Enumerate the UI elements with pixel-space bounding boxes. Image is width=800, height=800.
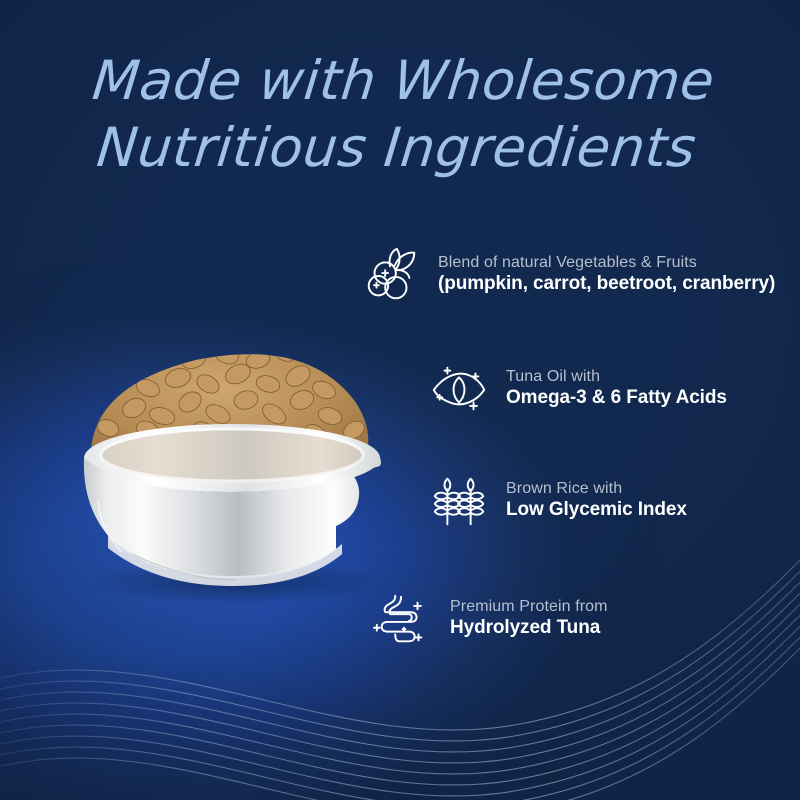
feature-text: Tuna Oil with Omega-3 & 6 Fatty Acids [506, 368, 727, 409]
promo-banner: Blend of natural Vegetables & Fruits (pu… [0, 0, 800, 800]
feature-text: Brown Rice with Low Glycemic Index [506, 480, 687, 521]
feature-label: Blend of natural Vegetables & Fruits [438, 254, 775, 273]
feature-item-tuna-oil: Tuna Oil with Omega-3 & 6 Fatty Acids [428, 358, 727, 420]
feature-item-vegetables-fruits: Blend of natural Vegetables & Fruits (pu… [360, 244, 775, 306]
berries-icon [360, 244, 422, 306]
feature-text: Premium Protein from Hydrolyzed Tuna [450, 598, 608, 639]
headline-line-1: Made with Wholesome [90, 49, 718, 112]
dog-food-bowl [36, 330, 416, 620]
headline-line-2: Nutritious Ingredients [0, 115, 800, 182]
feature-text: Blend of natural Vegetables & Fruits (pu… [438, 254, 775, 295]
feature-label: Tuna Oil with [506, 368, 727, 387]
feature-value: (pumpkin, carrot, beetroot, cranberry) [438, 273, 775, 295]
feature-label: Premium Protein from [450, 598, 608, 617]
feature-value: Low Glycemic Index [506, 499, 687, 521]
eye-icon [428, 358, 490, 420]
wheat-icon [428, 470, 490, 532]
feature-value: Omega-3 & 6 Fatty Acids [506, 387, 727, 409]
intestine-icon [372, 588, 434, 650]
feature-label: Brown Rice with [506, 480, 687, 499]
feature-value: Hydrolyzed Tuna [450, 617, 608, 639]
feature-item-hydrolyzed-tuna: Premium Protein from Hydrolyzed Tuna [372, 588, 608, 650]
feature-item-brown-rice: Brown Rice with Low Glycemic Index [428, 470, 687, 532]
bowl-illustration [36, 330, 416, 620]
page-title: Made with Wholesome Nutritious Ingredien… [0, 48, 800, 182]
